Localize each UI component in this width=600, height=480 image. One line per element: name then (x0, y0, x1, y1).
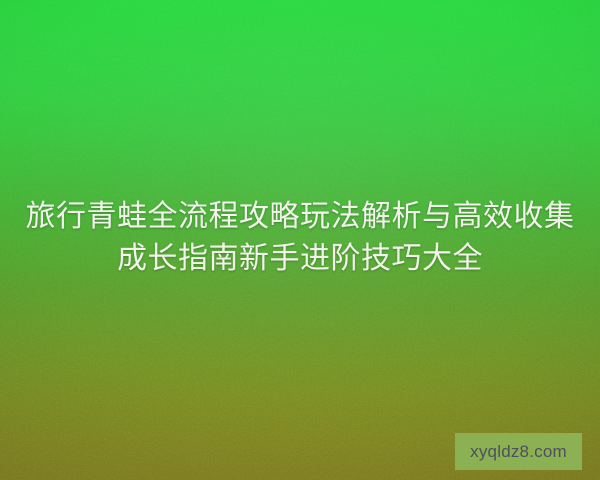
watermark-url-text: xyqldz8.com (470, 443, 567, 460)
cover-title-line-2: 成长指南新手进阶技巧大全 (0, 238, 600, 280)
cover-image: 旅行青蛙全流程攻略玩法解析与高效收集 成长指南新手进阶技巧大全 xyqldz8.… (0, 0, 600, 480)
watermark-badge: xyqldz8.com (455, 433, 582, 470)
cover-title: 旅行青蛙全流程攻略玩法解析与高效收集 成长指南新手进阶技巧大全 (0, 196, 600, 280)
cover-title-line-1: 旅行青蛙全流程攻略玩法解析与高效收集 (0, 196, 600, 238)
